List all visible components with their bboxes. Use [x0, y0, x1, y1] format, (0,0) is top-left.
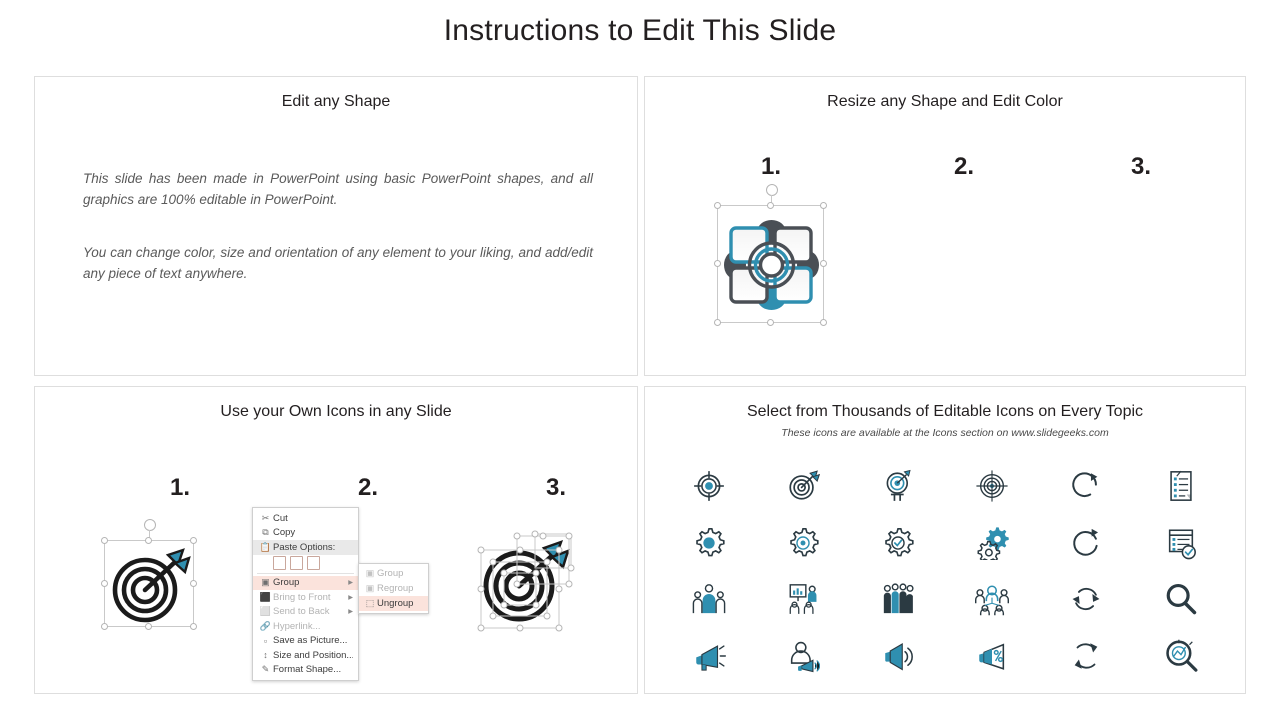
save-picture-icon: ▫ — [258, 635, 273, 646]
gear-check-icon — [881, 526, 915, 560]
paste-keep-formatting-icon[interactable] — [273, 556, 286, 570]
menu-item-label: Group — [377, 568, 424, 579]
paste-picture-icon[interactable] — [290, 556, 303, 570]
step-number-1: 1. — [741, 153, 801, 181]
page-title: Instructions to Edit This Slide — [0, 14, 1280, 48]
paste-option-buttons[interactable] — [253, 555, 358, 571]
rotate-handle[interactable] — [766, 184, 778, 196]
menu-item-label: Bring to Front — [273, 592, 348, 603]
menu-item-label: Save as Picture... — [273, 635, 353, 646]
menu-item-size-and-position[interactable]: ↕Size and Position... — [253, 648, 358, 663]
step-number-2: 2. — [934, 153, 994, 181]
icon-cell[interactable] — [945, 458, 1039, 515]
menu-item-send-to-back: ⬜Send to Back▸ — [253, 605, 358, 620]
icon-cell[interactable] — [1134, 458, 1228, 515]
icon-cell[interactable] — [1134, 515, 1228, 572]
icon-cell[interactable] — [851, 458, 945, 515]
icon-cell[interactable] — [851, 628, 945, 685]
editable-flower-shape-icon — [718, 206, 825, 324]
resize-handle-top-left[interactable] — [101, 537, 108, 544]
person-megaphone-icon — [786, 639, 820, 673]
panel-subtitle-icons-source: These icons are available at the Icons s… — [645, 427, 1245, 439]
resize-handle-bottom-left[interactable] — [101, 623, 108, 630]
panel-edit-any-shape: Edit any Shape This slide has been made … — [34, 76, 638, 376]
gear-solid-icon — [692, 526, 726, 560]
step-number-3: 3. — [526, 474, 586, 502]
icon-cell[interactable] — [662, 628, 756, 685]
icon-cell[interactable] — [662, 458, 756, 515]
resize-handle-bottom-right[interactable] — [190, 623, 197, 630]
icon-cell[interactable] — [1134, 571, 1228, 628]
menu-item-label: Copy — [273, 527, 353, 538]
icon-cell[interactable] — [1039, 458, 1133, 515]
resize-handle-top-right[interactable] — [190, 537, 197, 544]
menu-item-bring-to-front: ⬛Bring to Front▸ — [253, 590, 358, 605]
panel-title-own-icons: Use your Own Icons in any Slide — [35, 403, 637, 421]
divider — [257, 573, 354, 574]
icon-context-menu[interactable]: ✂Cut⧉Copy📋Paste Options:▣Group▸⬛Bring to… — [252, 507, 359, 681]
resize-handle-top-center[interactable] — [145, 537, 152, 544]
icon-cell[interactable] — [1039, 628, 1133, 685]
paste-icon: 📋 — [258, 542, 273, 553]
gear-target-icon — [786, 526, 820, 560]
icon-cell[interactable] — [851, 515, 945, 572]
menu-item-label: Size and Position... — [273, 650, 353, 661]
target-arrow-icon — [786, 469, 820, 503]
ungroup-icon: ⬚ — [363, 598, 377, 609]
loudspeaker-icon — [881, 639, 915, 673]
resize-handle-bottom-right[interactable] — [820, 319, 827, 326]
body-paragraph-2: You can change color, size and orientati… — [83, 243, 593, 285]
menu-item-copy[interactable]: ⧉Copy — [253, 526, 358, 541]
crosshair-scope-icon — [975, 469, 1009, 503]
icon-cell[interactable] — [945, 515, 1039, 572]
icon-cell[interactable] — [756, 628, 850, 685]
step-number-1: 1. — [150, 474, 210, 502]
target-arrow-icon — [105, 541, 195, 628]
panel-resize-shape: Resize any Shape and Edit Color 1. 2. 3. — [644, 76, 1246, 376]
menu-item-hyperlink: 🔗Hyperlink... — [253, 619, 358, 634]
panel-title-edit-shape: Edit any Shape — [35, 93, 637, 111]
send-back-icon: ⬜ — [258, 606, 273, 617]
menu-item-cut[interactable]: ✂Cut — [253, 511, 358, 526]
document-check-icon — [1164, 526, 1198, 560]
redo-arrow-icon — [1069, 469, 1103, 503]
resize-handle-middle-right[interactable] — [190, 580, 197, 587]
icon-cell[interactable] — [851, 571, 945, 628]
circular-arrows-icon — [1069, 639, 1103, 673]
resize-handle-middle-left[interactable] — [714, 260, 721, 267]
menu-item-label: Cut — [273, 513, 353, 524]
slide-canvas: Instructions to Edit This Slide Edit any… — [0, 0, 1280, 720]
target-arrow-ungrouped-icon — [473, 528, 581, 634]
chevron-right-icon: ▸ — [348, 592, 353, 603]
magnifier-target-icon — [1164, 639, 1198, 673]
icon-cell[interactable] — [1039, 515, 1133, 572]
icon-cell[interactable] — [1039, 571, 1133, 628]
team-leader-icon — [692, 582, 726, 616]
menu-item-group[interactable]: ▣Group▸ — [253, 576, 358, 591]
bring-front-icon: ⬛ — [258, 592, 273, 603]
menu-item-label: Hyperlink... — [273, 621, 353, 632]
target-stand-icon — [881, 469, 915, 503]
menu-item-save-as-picture[interactable]: ▫Save as Picture... — [253, 634, 358, 649]
menu-item-label: Ungroup — [377, 598, 424, 609]
body-paragraph-1: This slide has been made in PowerPoint u… — [83, 169, 593, 211]
menu-item-label: Paste Options: — [273, 542, 353, 553]
icon-cell[interactable] — [662, 515, 756, 572]
icon-cell[interactable] — [756, 571, 850, 628]
resize-handle-top-center[interactable] — [767, 202, 774, 209]
hyperlink-icon: 🔗 — [258, 621, 273, 632]
chevron-right-icon: ▸ — [348, 606, 353, 617]
menu-item-group: ▣Group — [359, 566, 428, 581]
double-gear-icon — [975, 526, 1009, 560]
menu-item-label: Group — [273, 577, 348, 588]
menu-item-format-shape[interactable]: ✎Format Shape... — [253, 663, 358, 678]
regroup-icon: ▣ — [363, 583, 377, 594]
step-number-2: 2. — [338, 474, 398, 502]
sync-arrows-icon — [1069, 582, 1103, 616]
megaphone-icon — [692, 639, 726, 673]
shape-selection-box[interactable] — [717, 205, 824, 323]
icon-library-grid — [662, 458, 1228, 684]
resize-handle-top-right[interactable] — [820, 202, 827, 209]
menu-item-label: Send to Back — [273, 606, 348, 617]
resize-handle-bottom-center[interactable] — [145, 623, 152, 630]
group-submenu[interactable]: ▣Group▣Regroup⬚Ungroup — [358, 563, 429, 614]
resize-handle-top-left[interactable] — [714, 202, 721, 209]
step-number-3: 3. — [1111, 153, 1171, 181]
rotate-handle[interactable] — [144, 519, 156, 531]
team-network-icon — [975, 582, 1009, 616]
format-shape-icon: ✎ — [258, 664, 273, 675]
group-icon: ▣ — [258, 577, 273, 588]
magnifier-icon — [1164, 582, 1198, 616]
icon-cell[interactable] — [1134, 628, 1228, 685]
icon-cell[interactable] — [945, 628, 1039, 685]
presentation-team-icon — [786, 582, 820, 616]
target-selection-box-grouped[interactable] — [104, 540, 194, 627]
icon-cell[interactable] — [662, 571, 756, 628]
icon-cell[interactable] — [756, 515, 850, 572]
panel-title-editable-icons: Select from Thousands of Editable Icons … — [645, 403, 1245, 421]
paste-keep-text-icon[interactable] — [307, 556, 320, 570]
refresh-circle-icon — [1069, 526, 1103, 560]
menu-item-regroup: ▣Regroup — [359, 581, 428, 596]
people-group-icon — [881, 582, 915, 616]
target-ungrouped-wrapper[interactable] — [473, 528, 581, 634]
discount-megaphone-icon — [975, 639, 1009, 673]
resize-handle-middle-left[interactable] — [101, 580, 108, 587]
checklist-document-icon — [1164, 469, 1198, 503]
resize-handle-bottom-left[interactable] — [714, 319, 721, 326]
resize-handle-bottom-center[interactable] — [767, 319, 774, 326]
chevron-right-icon: ▸ — [348, 577, 353, 588]
copy-icon: ⧉ — [258, 527, 273, 538]
menu-item-label: Format Shape... — [273, 664, 353, 675]
menu-item-paste-options[interactable]: 📋Paste Options: — [253, 540, 358, 555]
icon-cell[interactable] — [756, 458, 850, 515]
group-icon: ▣ — [363, 568, 377, 579]
resize-handle-middle-right[interactable] — [820, 260, 827, 267]
size-position-icon: ↕ — [258, 650, 273, 661]
menu-item-label: Regroup — [377, 583, 424, 594]
crosshair-target-icon — [692, 469, 726, 503]
scissors-icon: ✂ — [258, 513, 273, 524]
panel-title-resize-shape: Resize any Shape and Edit Color — [645, 93, 1245, 111]
menu-item-ungroup[interactable]: ⬚Ungroup — [359, 596, 428, 611]
icon-cell[interactable] — [945, 571, 1039, 628]
